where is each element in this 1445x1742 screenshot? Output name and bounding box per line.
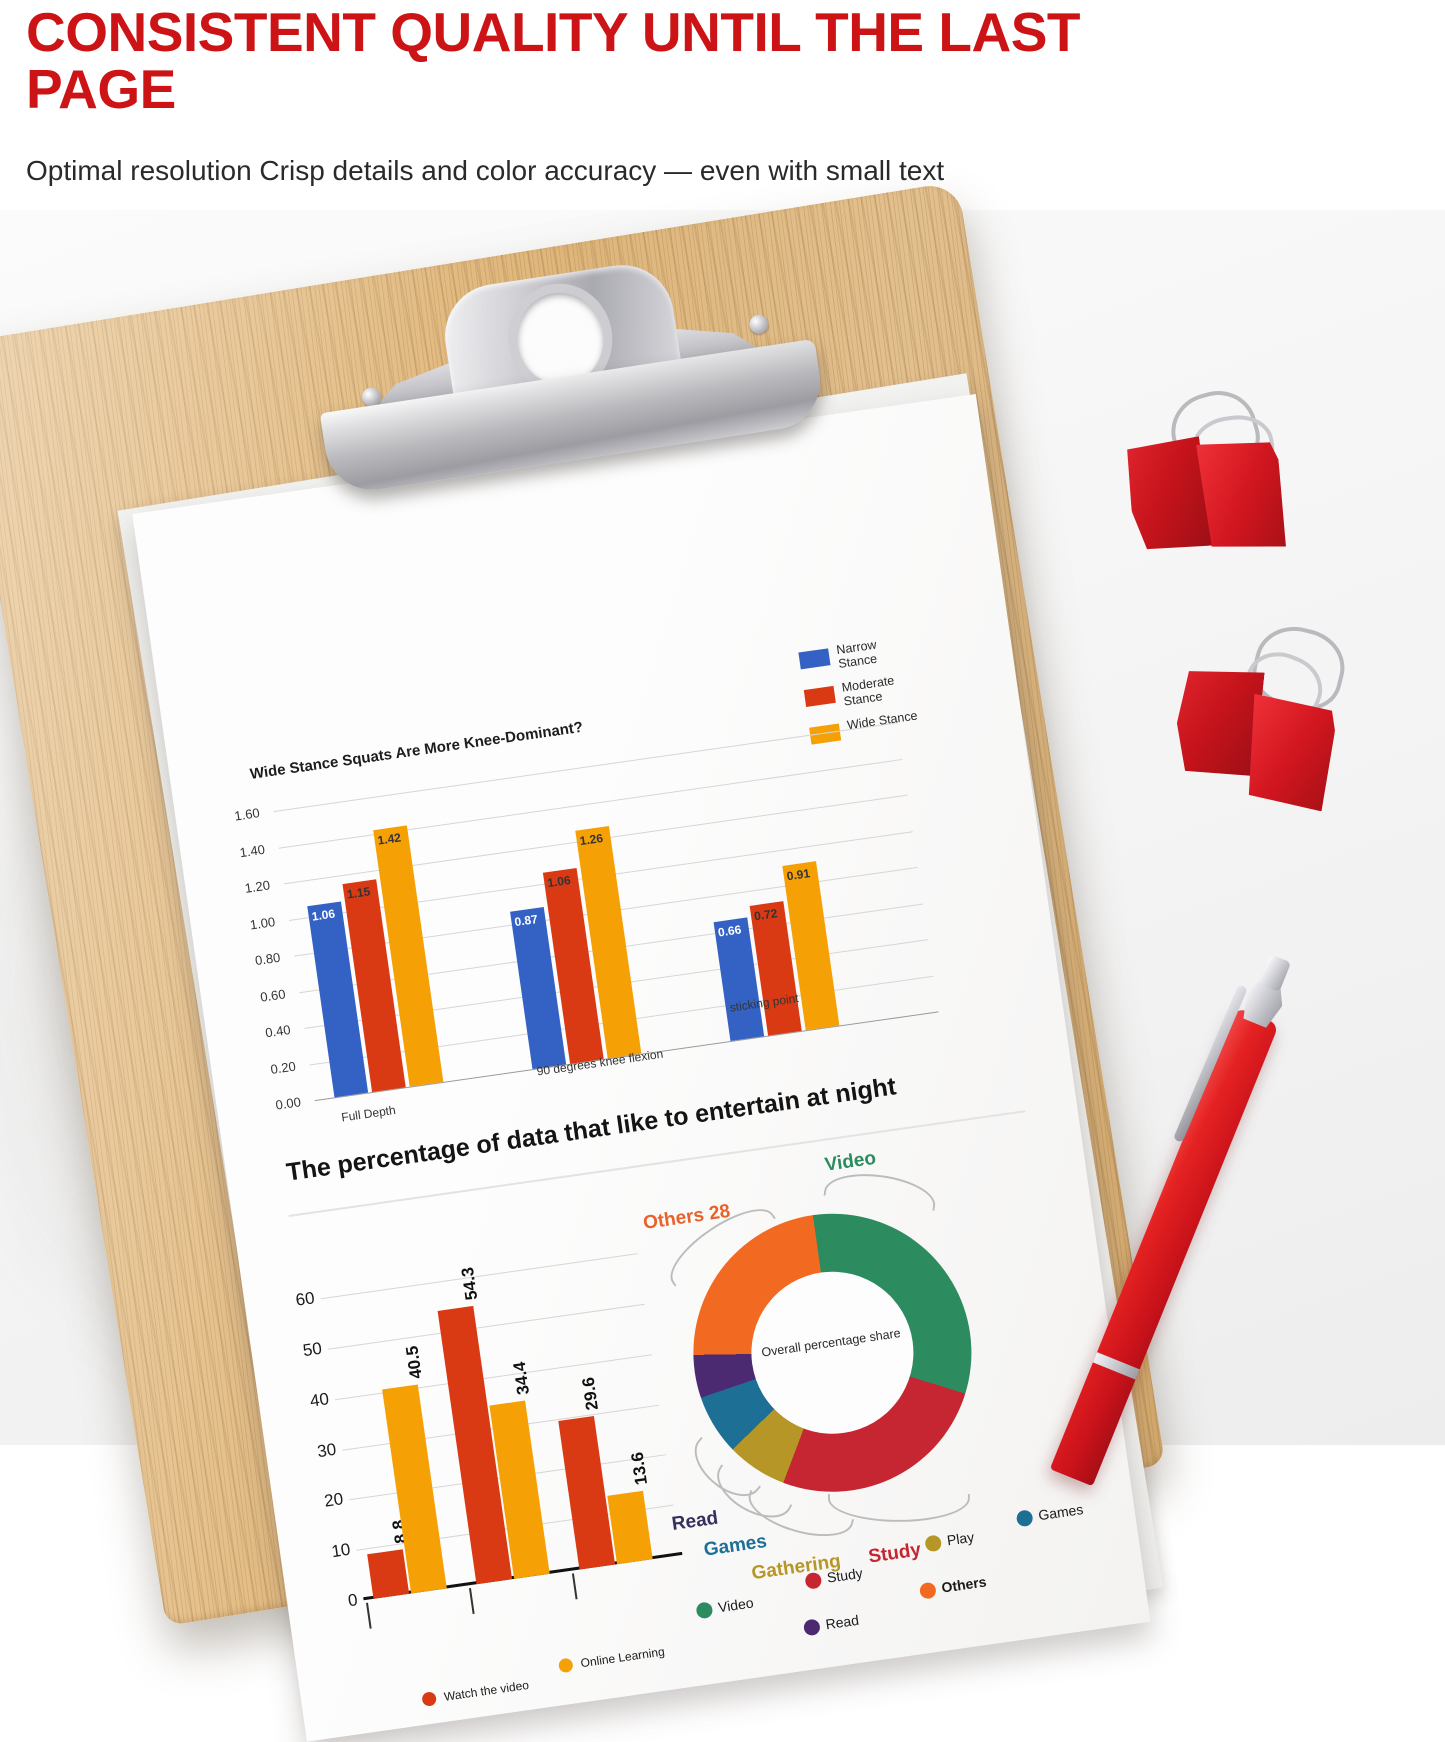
- chart1-ytick: 0.60: [237, 986, 287, 1008]
- chart3-ytick: 60: [280, 1289, 316, 1314]
- chart3-gridline: [328, 1304, 645, 1350]
- binder-clip-top: [1110, 392, 1310, 552]
- page-headline: CONSISTENT QUALITY UNTIL THE LAST PAGE: [26, 4, 1106, 117]
- chart1-ytick: 0.40: [242, 1022, 292, 1044]
- chart1-category-label: Full Depth: [340, 1103, 396, 1125]
- chart3-ytick: 30: [301, 1439, 337, 1464]
- legend-dot-watch-video: [421, 1691, 437, 1707]
- page-subheadline: Optimal resolution Crisp details and col…: [26, 155, 1126, 187]
- legend-label-watch-video: Watch the video: [443, 1678, 530, 1704]
- donut-legend-dot: [1016, 1509, 1034, 1527]
- printed-paper-sheet: Wide Stance Squats Are More Knee-Dominan…: [132, 394, 1150, 1742]
- binder-clip2-face-right: [1243, 694, 1338, 812]
- donut-callout-label: Video: [823, 1148, 877, 1177]
- chart3-bar-value: 29.6: [578, 1376, 602, 1412]
- binder-clip-bottom: [1168, 628, 1368, 798]
- clip-rivet-right: [748, 313, 770, 335]
- chart3-bar-value: 13.6: [628, 1451, 652, 1487]
- chart3-bar-value: 54.3: [458, 1266, 482, 1302]
- chart3-ytick: 0: [322, 1590, 358, 1615]
- chart-knee-dominant: Wide Stance Squats Are More Knee-Dominan…: [206, 670, 1029, 1136]
- chart3-xtick: [366, 1603, 372, 1629]
- chart1-ytick: 1.20: [221, 877, 271, 899]
- legend-swatch-narrow: [798, 648, 830, 669]
- legend-label-narrow: Narrow Stance: [835, 638, 879, 672]
- legend-dot-online-learning: [558, 1658, 574, 1674]
- donut-legend-dot: [695, 1601, 713, 1619]
- chart1-ytick: 0.20: [247, 1058, 297, 1080]
- chart1-ytick: 0.00: [252, 1094, 302, 1116]
- chart3-ytick: 40: [294, 1389, 330, 1414]
- chart3-xtick: [469, 1588, 475, 1614]
- donut-legend-label: Play: [946, 1529, 975, 1549]
- chart3-ytick: 50: [287, 1339, 323, 1364]
- donut-legend-label: Study: [826, 1565, 864, 1586]
- chart3-ytick: 10: [315, 1540, 351, 1565]
- donut-legend-dot: [919, 1582, 937, 1600]
- chart3-bar-value: 40.5: [402, 1345, 426, 1381]
- chart3-bar: [607, 1491, 652, 1564]
- chart1-plot-area: 0.000.200.400.600.801.001.201.401.601.06…: [206, 682, 947, 1117]
- product-photo-scene: Wide Stance Squats Are More Knee-Dominan…: [0, 210, 1445, 1445]
- chart1-ytick: 0.80: [232, 950, 282, 972]
- chart3-bar: [558, 1416, 615, 1570]
- binder-clip-body: [1123, 423, 1287, 562]
- chart3-bar: [367, 1550, 409, 1599]
- chart1-ytick: 1.40: [216, 841, 266, 863]
- donut-legend-label: Others: [940, 1573, 987, 1595]
- chart1-ytick: 1.60: [211, 805, 261, 827]
- chart1-gridline: [274, 722, 898, 812]
- chart-entertain-at-night: 01020304050608.840.554.334.429.613.6: [279, 1210, 692, 1657]
- donut-legend-label: Read: [824, 1612, 859, 1633]
- donut-legend-dot: [804, 1572, 822, 1590]
- chart3-xtick: [572, 1573, 578, 1599]
- legend-label-online-learning: Online Learning: [580, 1644, 666, 1670]
- donut-legend-label: Video: [717, 1594, 754, 1615]
- chart1-ytick: 1.00: [226, 914, 276, 936]
- binder-clip2-body: [1170, 664, 1341, 808]
- chart3-ytick: 20: [308, 1490, 344, 1515]
- donut-legend-dot: [924, 1534, 942, 1552]
- donut-legend-dot: [803, 1618, 821, 1636]
- donut-callout-label: Read: [671, 1508, 720, 1536]
- chart3-bar-value: 34.4: [510, 1361, 534, 1397]
